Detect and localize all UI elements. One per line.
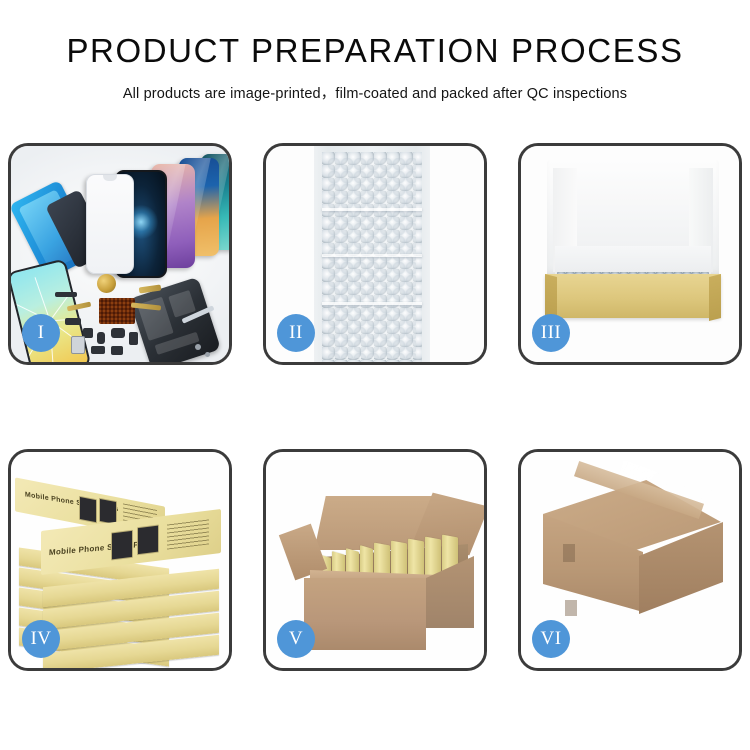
bubble-wrap-sheet	[314, 146, 430, 362]
part-sensor	[111, 346, 123, 355]
process-step-4[interactable]: Mobile Phone Spare Parts Mobile Phone Sp…	[8, 449, 232, 671]
process-step-1[interactable]: I	[8, 143, 232, 365]
step-badge-5: V	[277, 620, 315, 658]
retail-box-speclines-2	[167, 518, 209, 549]
wrap-fold-mid	[322, 254, 422, 257]
step-badge-6: VI	[532, 620, 570, 658]
retail-box-chip-1a	[79, 496, 97, 523]
carton-seam-upper	[563, 544, 575, 562]
bubble-highlight-pattern	[328, 158, 416, 358]
process-step-3[interactable]: III	[518, 143, 742, 365]
part-camera	[111, 328, 125, 338]
kraft-box-base	[545, 274, 721, 318]
part-speaker	[55, 292, 77, 297]
step-badge-2: II	[277, 314, 315, 352]
page-subtitle: All products are image-printed，film-coat…	[0, 82, 750, 103]
part-screws-2	[205, 352, 210, 357]
part-bracket-a	[65, 318, 81, 325]
process-step-grid: I II III	[8, 143, 742, 671]
copper-mesh-part	[99, 298, 135, 324]
wrap-fold-lower	[322, 302, 422, 305]
page-header: PRODUCT PREPARATION PROCESS All products…	[0, 0, 750, 103]
carton-front-face	[304, 578, 426, 650]
step-badge-1: I	[22, 314, 60, 352]
process-step-5[interactable]: V	[263, 449, 487, 671]
step-badge-4: IV	[22, 620, 60, 658]
part-screws	[195, 344, 201, 350]
part-battery-cap	[129, 332, 138, 345]
wrap-fold-upper	[322, 208, 422, 211]
carton-seam-lower	[565, 600, 577, 616]
wireless-coil-part	[97, 274, 116, 293]
retail-box-chip-2a	[111, 530, 133, 561]
part-button	[97, 332, 105, 344]
page-title: PRODUCT PREPARATION PROCESS	[0, 34, 750, 67]
step-badge-3: III	[532, 314, 570, 352]
retail-box-chip-2b	[137, 525, 159, 556]
process-step-6[interactable]: VI	[518, 449, 742, 671]
part-tray	[71, 336, 85, 354]
process-step-2[interactable]: II	[263, 143, 487, 365]
part-clip	[91, 346, 105, 354]
phone-glass-protector	[86, 174, 134, 274]
